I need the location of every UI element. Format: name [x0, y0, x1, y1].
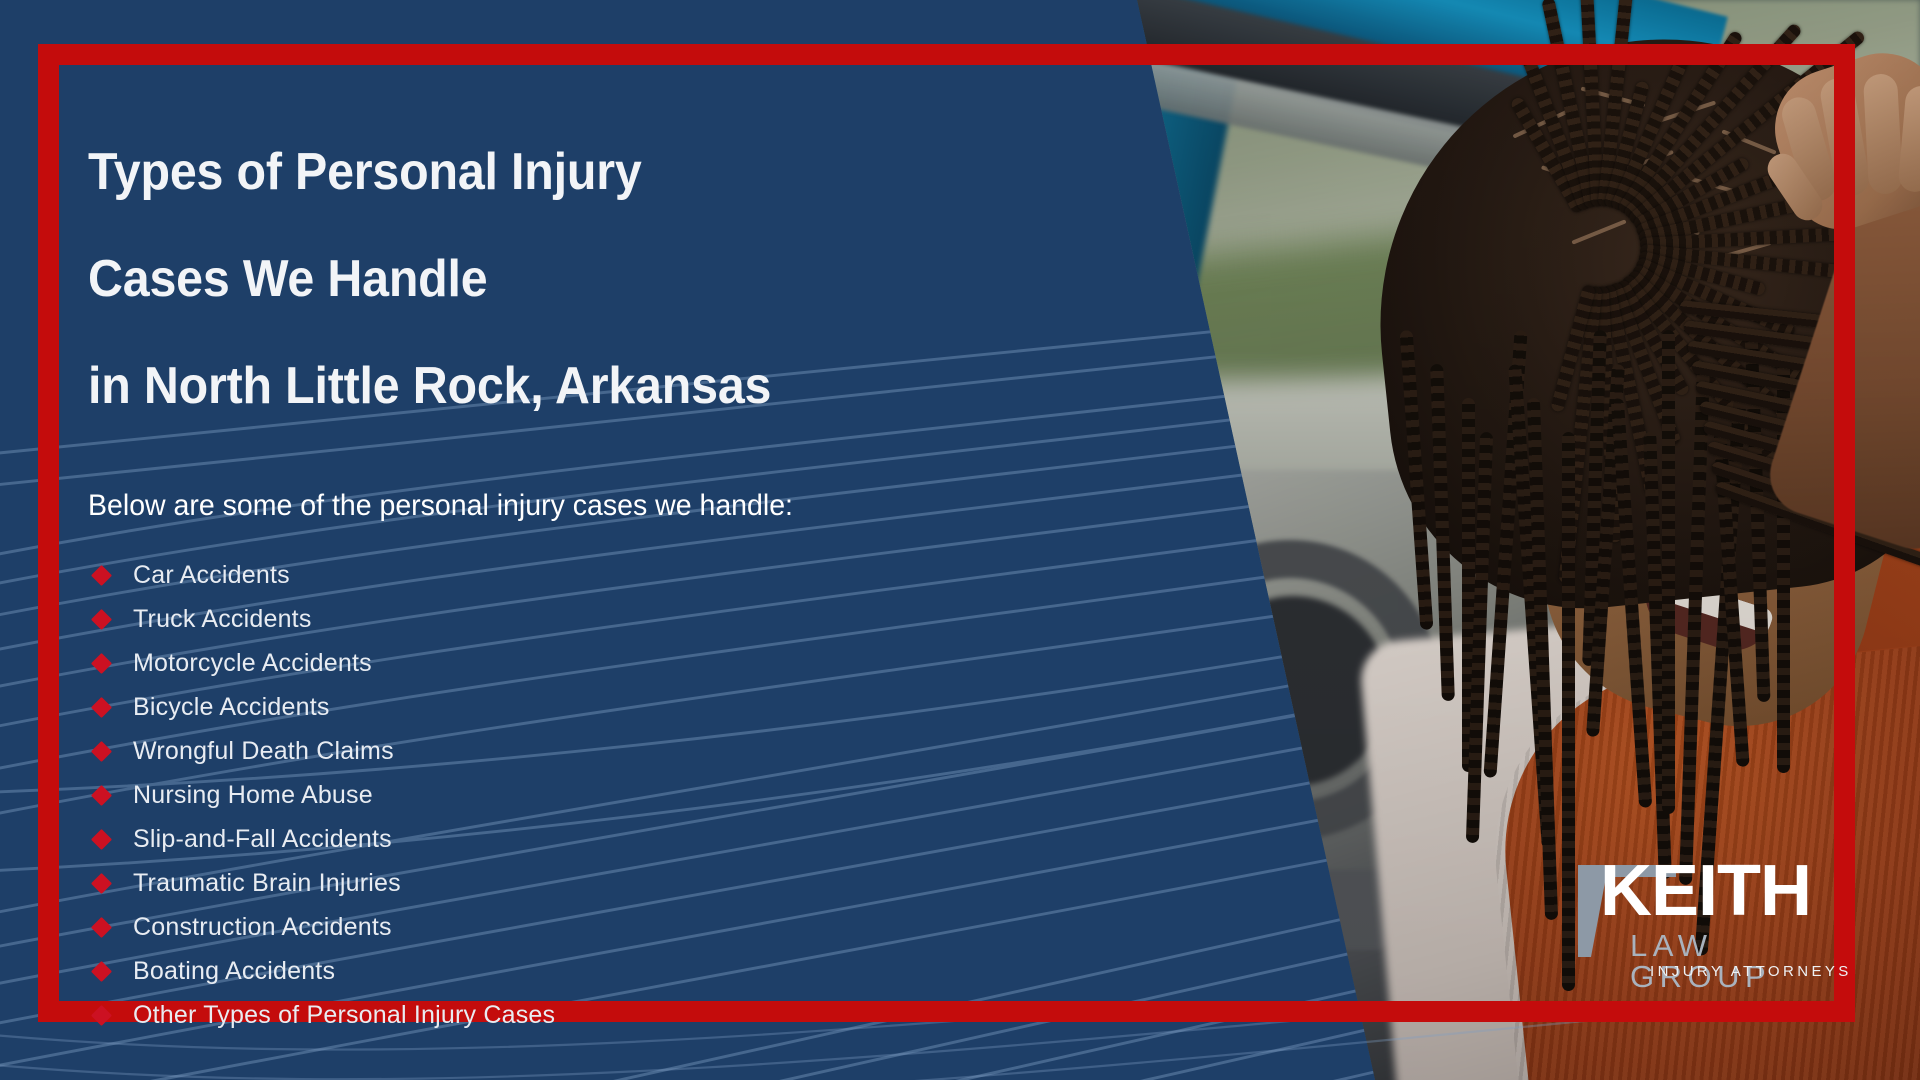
- list-item-label: Slip-and-Fall Accidents: [133, 825, 392, 854]
- logo-tagline: LAW GROUP: [1630, 930, 1862, 992]
- diamond-bullet-icon: [91, 741, 112, 762]
- list-item-label: Motorcycle Accidents: [133, 649, 372, 678]
- diamond-bullet-icon: [91, 565, 112, 586]
- list-item[interactable]: Slip-and-Fall Accidents: [88, 818, 1088, 862]
- content-block: Types of Personal Injury Cases We Handle…: [88, 92, 1088, 1038]
- list-item-label: Nursing Home Abuse: [133, 781, 373, 810]
- list-item-label: Wrongful Death Claims: [133, 737, 394, 766]
- list-item[interactable]: Truck Accidents: [88, 598, 1088, 642]
- logo-subtagline: INJURY ATTORNEYS: [1650, 964, 1852, 979]
- list-item[interactable]: Nursing Home Abuse: [88, 774, 1088, 818]
- list-item[interactable]: Boating Accidents: [88, 950, 1088, 994]
- diamond-bullet-icon: [91, 917, 112, 938]
- list-item-label: Car Accidents: [133, 561, 290, 590]
- case-types-list: Car AccidentsTruck AccidentsMotorcycle A…: [88, 554, 1088, 1038]
- list-item-label: Construction Accidents: [133, 913, 392, 942]
- keith-law-group-logo: KEITH LAW GROUP INJURY ATTORNEYS: [1572, 845, 1862, 985]
- list-item[interactable]: Motorcycle Accidents: [88, 642, 1088, 686]
- list-item[interactable]: Car Accidents: [88, 554, 1088, 598]
- slide-canvas: Types of Personal Injury Cases We Handle…: [0, 0, 1920, 1080]
- diamond-bullet-icon: [91, 873, 112, 894]
- list-item[interactable]: Wrongful Death Claims: [88, 730, 1088, 774]
- page-title: Types of Personal Injury Cases We Handle…: [88, 92, 1018, 467]
- diamond-bullet-icon: [91, 785, 112, 806]
- list-item-label: Traumatic Brain Injuries: [133, 869, 401, 898]
- list-item-label: Boating Accidents: [133, 957, 335, 986]
- list-item-label: Other Types of Personal Injury Cases: [133, 1001, 555, 1030]
- diamond-bullet-icon: [91, 653, 112, 674]
- list-item[interactable]: Traumatic Brain Injuries: [88, 862, 1088, 906]
- list-item[interactable]: Other Types of Personal Injury Cases: [88, 994, 1088, 1038]
- page-title-line-1: Types of Personal Injury: [88, 146, 1018, 200]
- list-item[interactable]: Bicycle Accidents: [88, 686, 1088, 730]
- hair-braid-strand: [1662, 330, 1675, 814]
- diamond-bullet-icon: [91, 697, 112, 718]
- list-item[interactable]: Construction Accidents: [88, 906, 1088, 950]
- page-title-line-3: in North Little Rock, Arkansas: [88, 360, 1018, 414]
- page-subtitle: Below are some of the personal injury ca…: [88, 488, 1038, 524]
- list-item-label: Bicycle Accidents: [133, 693, 330, 722]
- person-finger: [1863, 73, 1903, 195]
- diamond-bullet-icon: [91, 609, 112, 630]
- page-title-line-2: Cases We Handle: [88, 253, 1018, 307]
- logo-wordmark: KEITH: [1600, 855, 1811, 927]
- diamond-bullet-icon: [91, 961, 112, 982]
- list-item-label: Truck Accidents: [133, 605, 312, 634]
- diamond-bullet-icon: [91, 829, 112, 850]
- diamond-bullet-icon: [91, 1005, 112, 1026]
